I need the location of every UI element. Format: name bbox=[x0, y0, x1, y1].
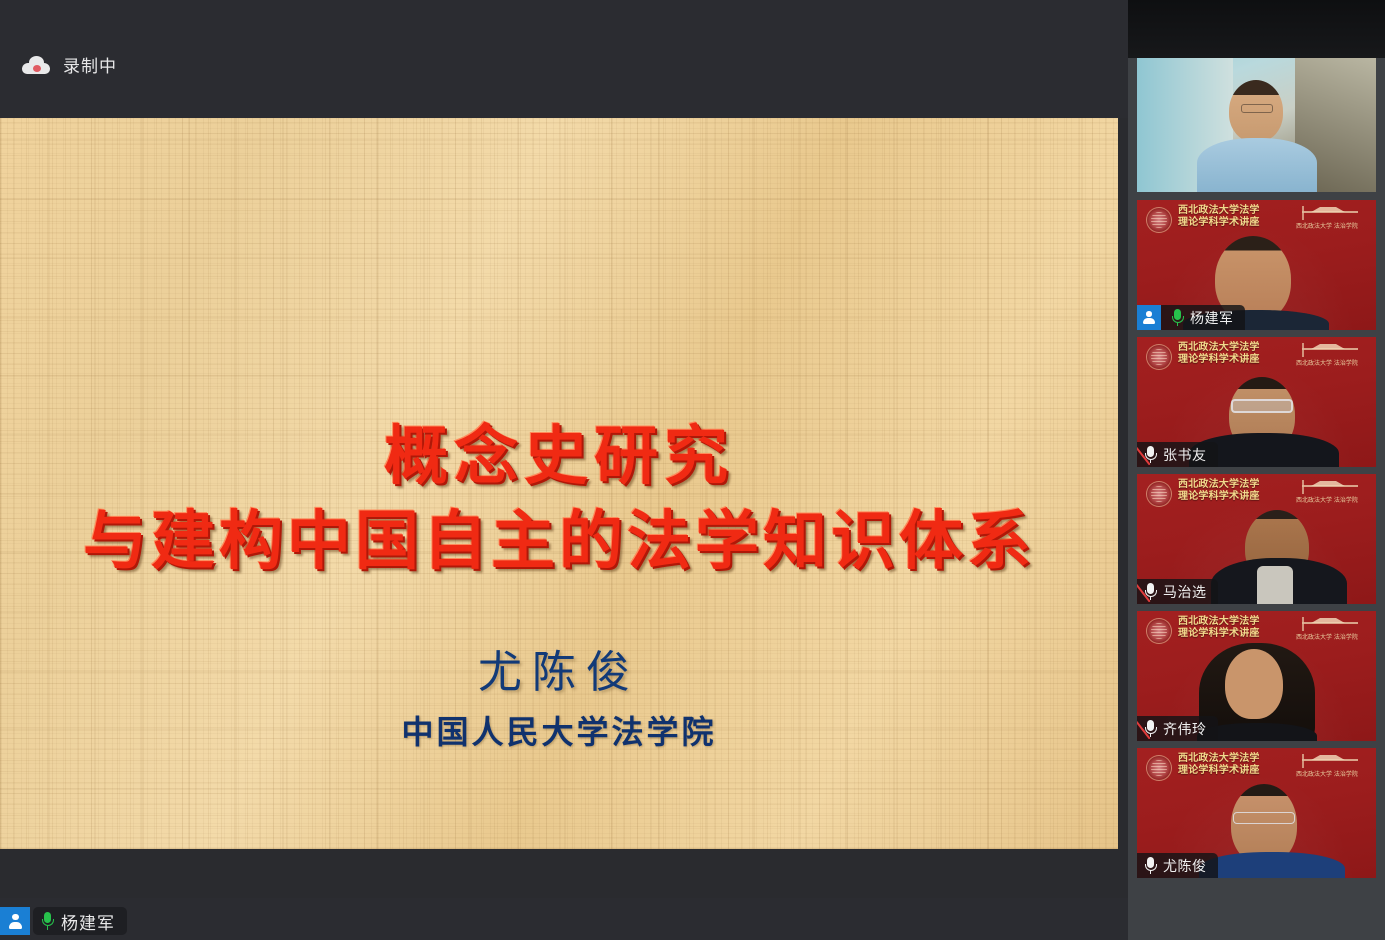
mic-muted-icon bbox=[1144, 720, 1157, 738]
participant-name-qiweiling: 齐伟玲 bbox=[1163, 719, 1207, 739]
banner-text-yangjianjun: 西北政法大学法学理论学科学术讲座 bbox=[1178, 205, 1260, 229]
mic-active-icon bbox=[1171, 309, 1184, 327]
participant-name-chip-zhangshuyou: 张书友 bbox=[1137, 442, 1218, 467]
participant-tile-yangjianjun[interactable]: 西北政法大学法学理论学科学术讲座 西北政法大学 法治学院 杨建军 bbox=[1137, 200, 1376, 330]
person-icon bbox=[0, 907, 30, 935]
participant-video-1 bbox=[1137, 58, 1376, 192]
banner-text-youchenjun: 西北政法大学法学理论学科学术讲座 bbox=[1178, 753, 1260, 777]
participant-sidebar[interactable]: 西北政法大学法学理论学科学术讲座 西北政法大学 法治学院 杨建军 bbox=[1128, 0, 1385, 940]
participant-tile-1[interactable] bbox=[1137, 58, 1376, 192]
participant-name-yangjianjun: 杨建军 bbox=[1190, 308, 1234, 328]
slide-title-line-2: 与建构中国自主的法学知识体系 bbox=[0, 490, 1118, 582]
participant-name-chip-mazhixuan: 马治选 bbox=[1137, 579, 1218, 604]
participant-name-chip-yangjianjun: 杨建军 bbox=[1137, 305, 1245, 330]
university-emblem-icon bbox=[1146, 207, 1172, 233]
participant-name-chip-youchenjun: 尤陈俊 bbox=[1137, 853, 1218, 878]
active-speaker-name: 杨建军 bbox=[61, 909, 115, 934]
university-logo-icon: 西北政法大学 法治学院 bbox=[1296, 754, 1368, 780]
banner-text-qiweiling: 西北政法大学法学理论学科学术讲座 bbox=[1178, 616, 1260, 640]
presentation-slide: 概念史研究 与建构中国自主的法学知识体系 尤陈俊 中国人民大学法学院 bbox=[0, 118, 1118, 849]
participant-tile-mazhixuan[interactable]: 西北政法大学法学理论学科学术讲座 西北政法大学 法治学院 马治选 bbox=[1137, 474, 1376, 604]
mic-active-icon bbox=[41, 912, 54, 930]
stage-top-bar: 录制中 bbox=[0, 0, 1128, 118]
participant-name-youchenjun: 尤陈俊 bbox=[1163, 856, 1207, 876]
banner-text-zhangshuyou: 西北政法大学法学理论学科学术讲座 bbox=[1178, 342, 1260, 366]
participant-tile-zhangshuyou[interactable]: 西北政法大学法学理论学科学术讲座 西北政法大学 法治学院 张书友 bbox=[1137, 337, 1376, 467]
participant-tile-youchenjun[interactable]: 西北政法大学法学理论学科学术讲座 西北政法大学 法治学院 尤陈俊 bbox=[1137, 748, 1376, 878]
active-speaker-pill[interactable]: 杨建军 bbox=[33, 907, 127, 935]
shared-screen-stage: 录制中 概念史研究 与建构中国自主的法学知识体系 尤陈俊 中国人民大学法学院 杨… bbox=[0, 0, 1128, 940]
participant-name-chip-qiweiling: 齐伟玲 bbox=[1137, 716, 1218, 741]
participant-name-mazhixuan: 马治选 bbox=[1163, 582, 1207, 602]
participant-tile-qiweiling[interactable]: 西北政法大学法学理论学科学术讲座 西北政法大学 法治学院 齐伟玲 bbox=[1137, 611, 1376, 741]
slide-author-name: 尤陈俊 bbox=[0, 636, 1118, 700]
university-emblem-icon bbox=[1146, 755, 1172, 781]
university-emblem-icon bbox=[1146, 344, 1172, 370]
mic-muted-icon bbox=[1144, 446, 1157, 464]
mic-muted-icon bbox=[1144, 583, 1157, 601]
cloud-recording-icon bbox=[22, 56, 50, 74]
university-logo-icon: 西北政法大学 法治学院 bbox=[1296, 206, 1368, 232]
mic-idle-icon bbox=[1144, 857, 1157, 875]
university-logo-icon: 西北政法大学 法治学院 bbox=[1296, 617, 1368, 643]
slide-title-line-1: 概念史研究 bbox=[0, 405, 1118, 497]
stage-bottom-bar bbox=[0, 898, 1128, 940]
participant-name-zhangshuyou: 张书友 bbox=[1163, 445, 1207, 465]
university-logo-icon: 西北政法大学 法治学院 bbox=[1296, 343, 1368, 369]
sidebar-top-padding bbox=[1128, 0, 1385, 58]
recording-indicator: 录制中 bbox=[22, 52, 117, 77]
university-emblem-icon bbox=[1146, 618, 1172, 644]
recording-label: 录制中 bbox=[63, 52, 117, 77]
person-icon bbox=[1137, 305, 1161, 330]
university-logo-icon: 西北政法大学 法治学院 bbox=[1296, 480, 1368, 506]
slide-affiliation: 中国人民大学法学院 bbox=[0, 707, 1118, 753]
active-speaker-chip[interactable]: 杨建军 bbox=[0, 907, 127, 935]
university-emblem-icon bbox=[1146, 481, 1172, 507]
banner-text-mazhixuan: 西北政法大学法学理论学科学术讲座 bbox=[1178, 479, 1260, 503]
